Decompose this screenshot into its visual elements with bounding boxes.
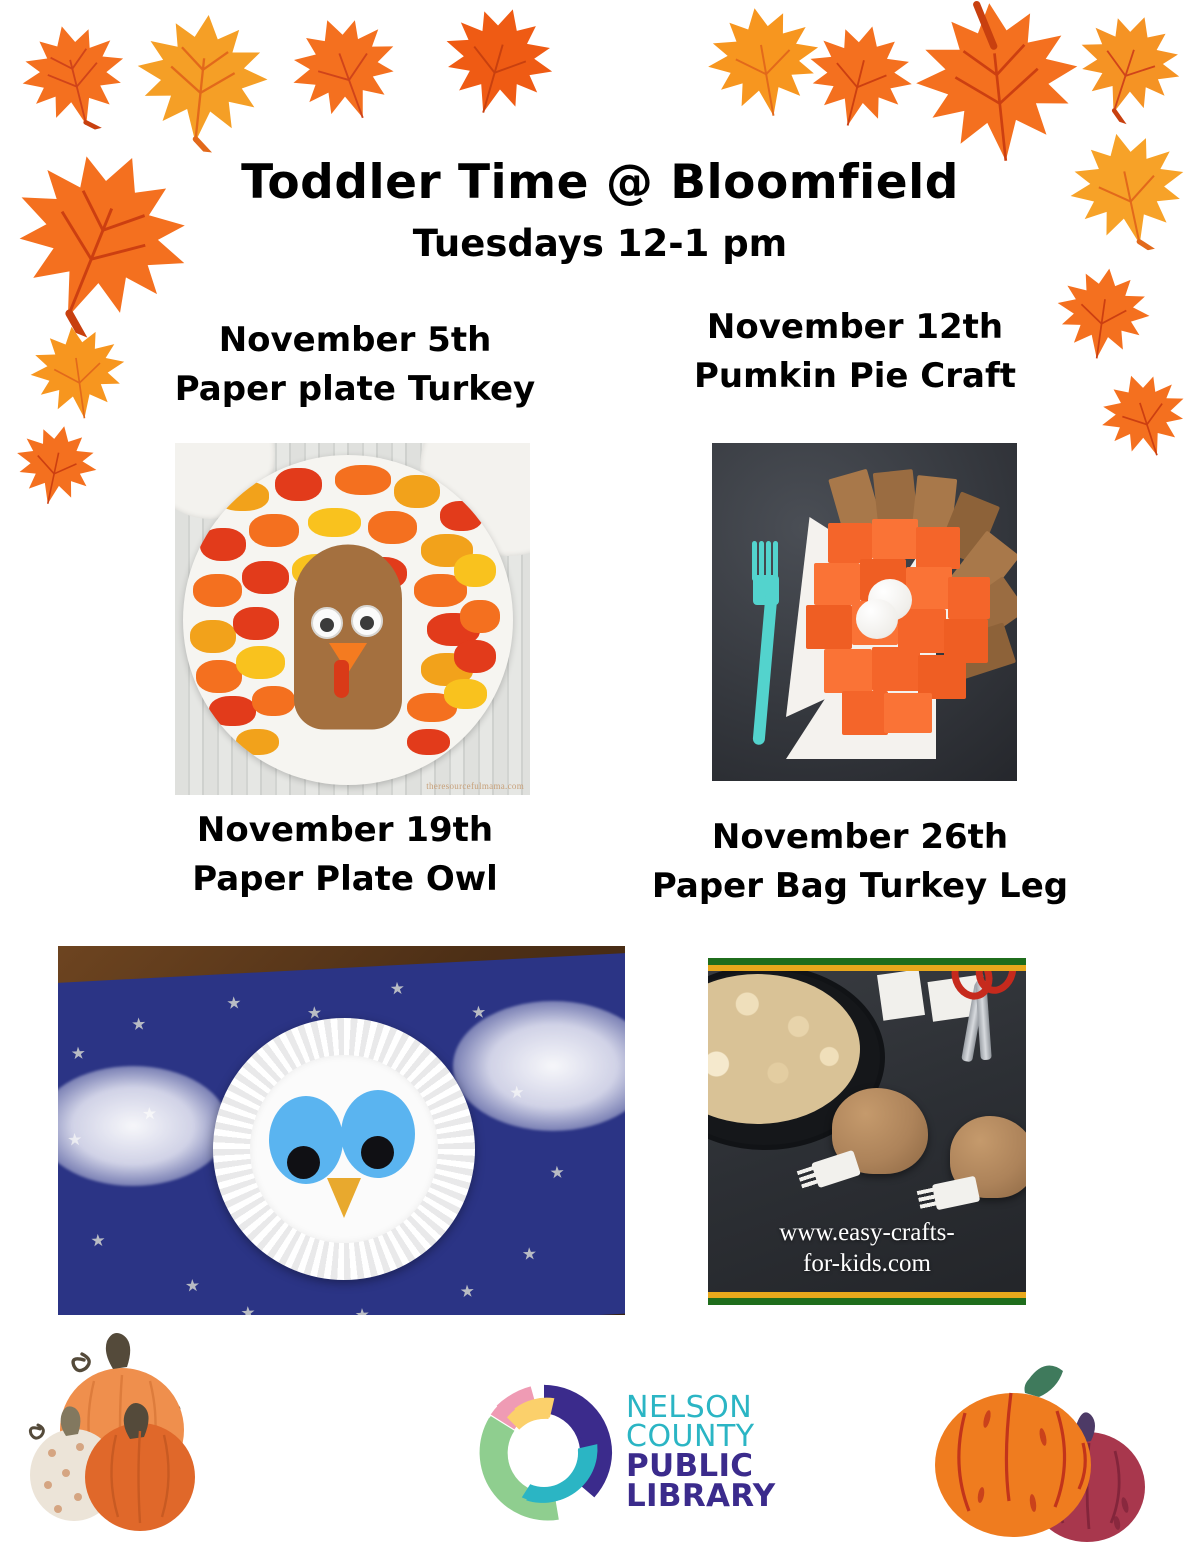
photo-watermark: theresourcefulmama.com bbox=[426, 781, 524, 791]
maple-leaf-icon bbox=[421, 0, 576, 137]
event-heading-2: November 12th Pumkin Pie Craft bbox=[620, 305, 1090, 402]
maple-leaf-icon bbox=[1055, 0, 1200, 137]
pumpkin-decoration-left bbox=[22, 1325, 237, 1544]
event-photo-paper-plate-owl: ★ ★ ★ ★ ★ ★ ★ ★ ★ ★ ★ ★ ★ ★ ★ ★ bbox=[58, 946, 625, 1315]
event-heading-1: November 5th Paper plate Turkey bbox=[120, 318, 590, 415]
event-date-4: November 26th bbox=[615, 815, 1105, 861]
maple-leaf-icon bbox=[896, 0, 1099, 181]
logo-wordmark: NELSON COUNTY PUBLIC LIBRARY bbox=[626, 1394, 776, 1511]
maple-leaf-icon bbox=[2, 5, 146, 146]
turkey-body bbox=[294, 544, 402, 729]
library-logo: NELSON COUNTY PUBLIC LIBRARY bbox=[470, 1378, 780, 1528]
watermark-line-2: for-kids.com bbox=[803, 1250, 931, 1277]
turkey-eye-right bbox=[351, 605, 383, 637]
owl-pupil-right bbox=[361, 1136, 394, 1169]
popcorn bbox=[708, 974, 860, 1124]
paper-scrap bbox=[877, 969, 925, 1020]
event-craft-1: Paper plate Turkey bbox=[120, 364, 590, 415]
pumpkin-decoration-right bbox=[925, 1355, 1155, 1553]
maple-leaf-icon bbox=[788, 5, 932, 147]
scissors bbox=[942, 966, 1010, 1076]
poster-subtitle: Tuesdays 12-1 pm bbox=[0, 222, 1200, 265]
event-photo-paper-bag-turkey-leg: www.easy-crafts- for-kids.com bbox=[708, 958, 1026, 1305]
event-craft-2: Pumkin Pie Craft bbox=[620, 351, 1090, 402]
event-craft-3: Paper Plate Owl bbox=[110, 854, 580, 905]
photo-border-bottom bbox=[708, 1292, 1026, 1305]
event-date-3: November 19th bbox=[110, 808, 580, 854]
owl-pupil-left bbox=[287, 1146, 320, 1179]
cotton-ball bbox=[856, 599, 898, 639]
event-craft-4: Paper Bag Turkey Leg bbox=[615, 861, 1105, 912]
maple-leaf-icon bbox=[1083, 355, 1200, 476]
event-date-2: November 12th bbox=[620, 305, 1090, 351]
photo-watermark: www.easy-crafts- for-kids.com bbox=[708, 1217, 1026, 1280]
turkey-plate bbox=[183, 455, 513, 785]
teal-fork bbox=[750, 535, 780, 745]
owl-beak bbox=[327, 1178, 361, 1218]
event-photo-pumpkin-pie-craft bbox=[712, 443, 1017, 781]
watermark-line-1: www.easy-crafts- bbox=[779, 1219, 954, 1246]
event-heading-4: November 26th Paper Bag Turkey Leg bbox=[615, 815, 1105, 912]
photo-border-top bbox=[708, 958, 1026, 971]
logo-line-library: LIBRARY bbox=[626, 1482, 776, 1512]
maple-leaf-icon bbox=[121, 0, 283, 158]
pie-slice bbox=[784, 471, 1002, 761]
poster-title: Toddler Time @ Bloomfield bbox=[0, 155, 1200, 210]
maple-leaf-icon bbox=[268, 0, 421, 145]
maple-leaf-icon bbox=[690, 0, 838, 134]
event-photo-paper-plate-turkey: theresourcefulmama.com bbox=[175, 443, 530, 795]
owl-paper-plate bbox=[213, 1018, 475, 1280]
event-heading-3: November 19th Paper Plate Owl bbox=[110, 808, 580, 905]
turkey-eye-left bbox=[311, 607, 343, 639]
logo-ring-mark bbox=[470, 1379, 618, 1527]
poster-canvas: Toddler Time @ Bloomfield Tuesdays 12-1 … bbox=[0, 0, 1200, 1553]
event-date-1: November 5th bbox=[120, 318, 590, 364]
turkey-wattle bbox=[334, 660, 349, 698]
maple-leaf-icon bbox=[2, 411, 111, 518]
